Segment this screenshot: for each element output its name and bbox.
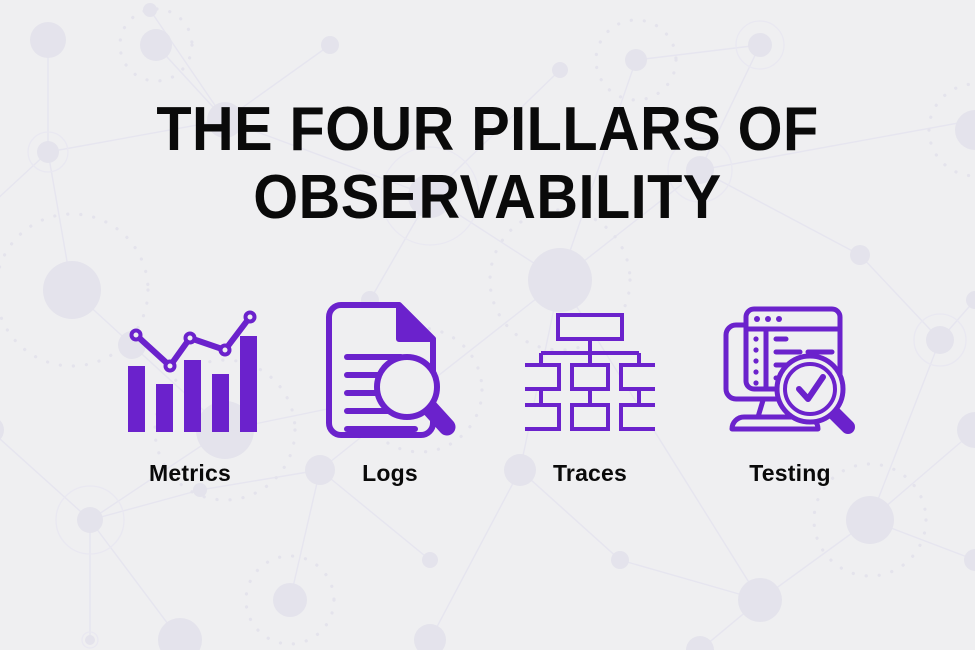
tree-node-mid-3: [621, 365, 655, 389]
tree-node-leaf-1: [525, 405, 559, 429]
tree-node-leaf-3: [621, 405, 655, 429]
metrics-bars: [128, 336, 257, 432]
pillars-row: Metrics: [90, 296, 890, 516]
magnifier-lens-inner: [785, 364, 835, 414]
document-folded-corner: [399, 305, 433, 339]
pillar-label-logs: Logs: [362, 460, 418, 486]
tree-node-leaf-2: [572, 405, 608, 429]
document-with-magnifier-icon: [323, 301, 458, 441]
testing-icon-wrap: [720, 296, 860, 446]
pillar-label-traces: Traces: [553, 460, 627, 486]
tree-node-mid-1: [525, 365, 559, 389]
page-title-line-2: OBSERVABILITY: [34, 164, 941, 232]
pillar-label-metrics: Metrics: [149, 460, 231, 486]
pillar-logs[interactable]: Logs: [290, 296, 490, 486]
page-title-line-1: THE FOUR PILLARS OF: [34, 96, 941, 164]
pillar-traces[interactable]: Traces: [490, 296, 690, 486]
page-title: THE FOUR PILLARS OF OBSERVABILITY: [0, 96, 975, 232]
tree-node-mid-2: [572, 365, 608, 389]
monitor-with-checkmark-magnifier-icon: [720, 301, 860, 441]
tree-node-root: [558, 315, 622, 339]
hierarchy-tree-icon: [525, 311, 655, 431]
tree-nodes: [525, 315, 655, 429]
metrics-icon-wrap: [120, 296, 260, 446]
pillar-label-testing: Testing: [749, 460, 830, 486]
pillar-metrics[interactable]: Metrics: [90, 296, 290, 486]
pillar-testing[interactable]: Testing: [690, 296, 890, 486]
traces-icon-wrap: [525, 296, 655, 446]
bar-chart-with-trend-line-icon: [120, 304, 260, 439]
logs-icon-wrap: [323, 296, 458, 446]
infographic-canvas: THE FOUR PILLARS OF OBSERVABILITY: [0, 0, 975, 650]
browser-titlebar-dots: [754, 316, 782, 322]
magnifier-lens: [377, 357, 437, 417]
